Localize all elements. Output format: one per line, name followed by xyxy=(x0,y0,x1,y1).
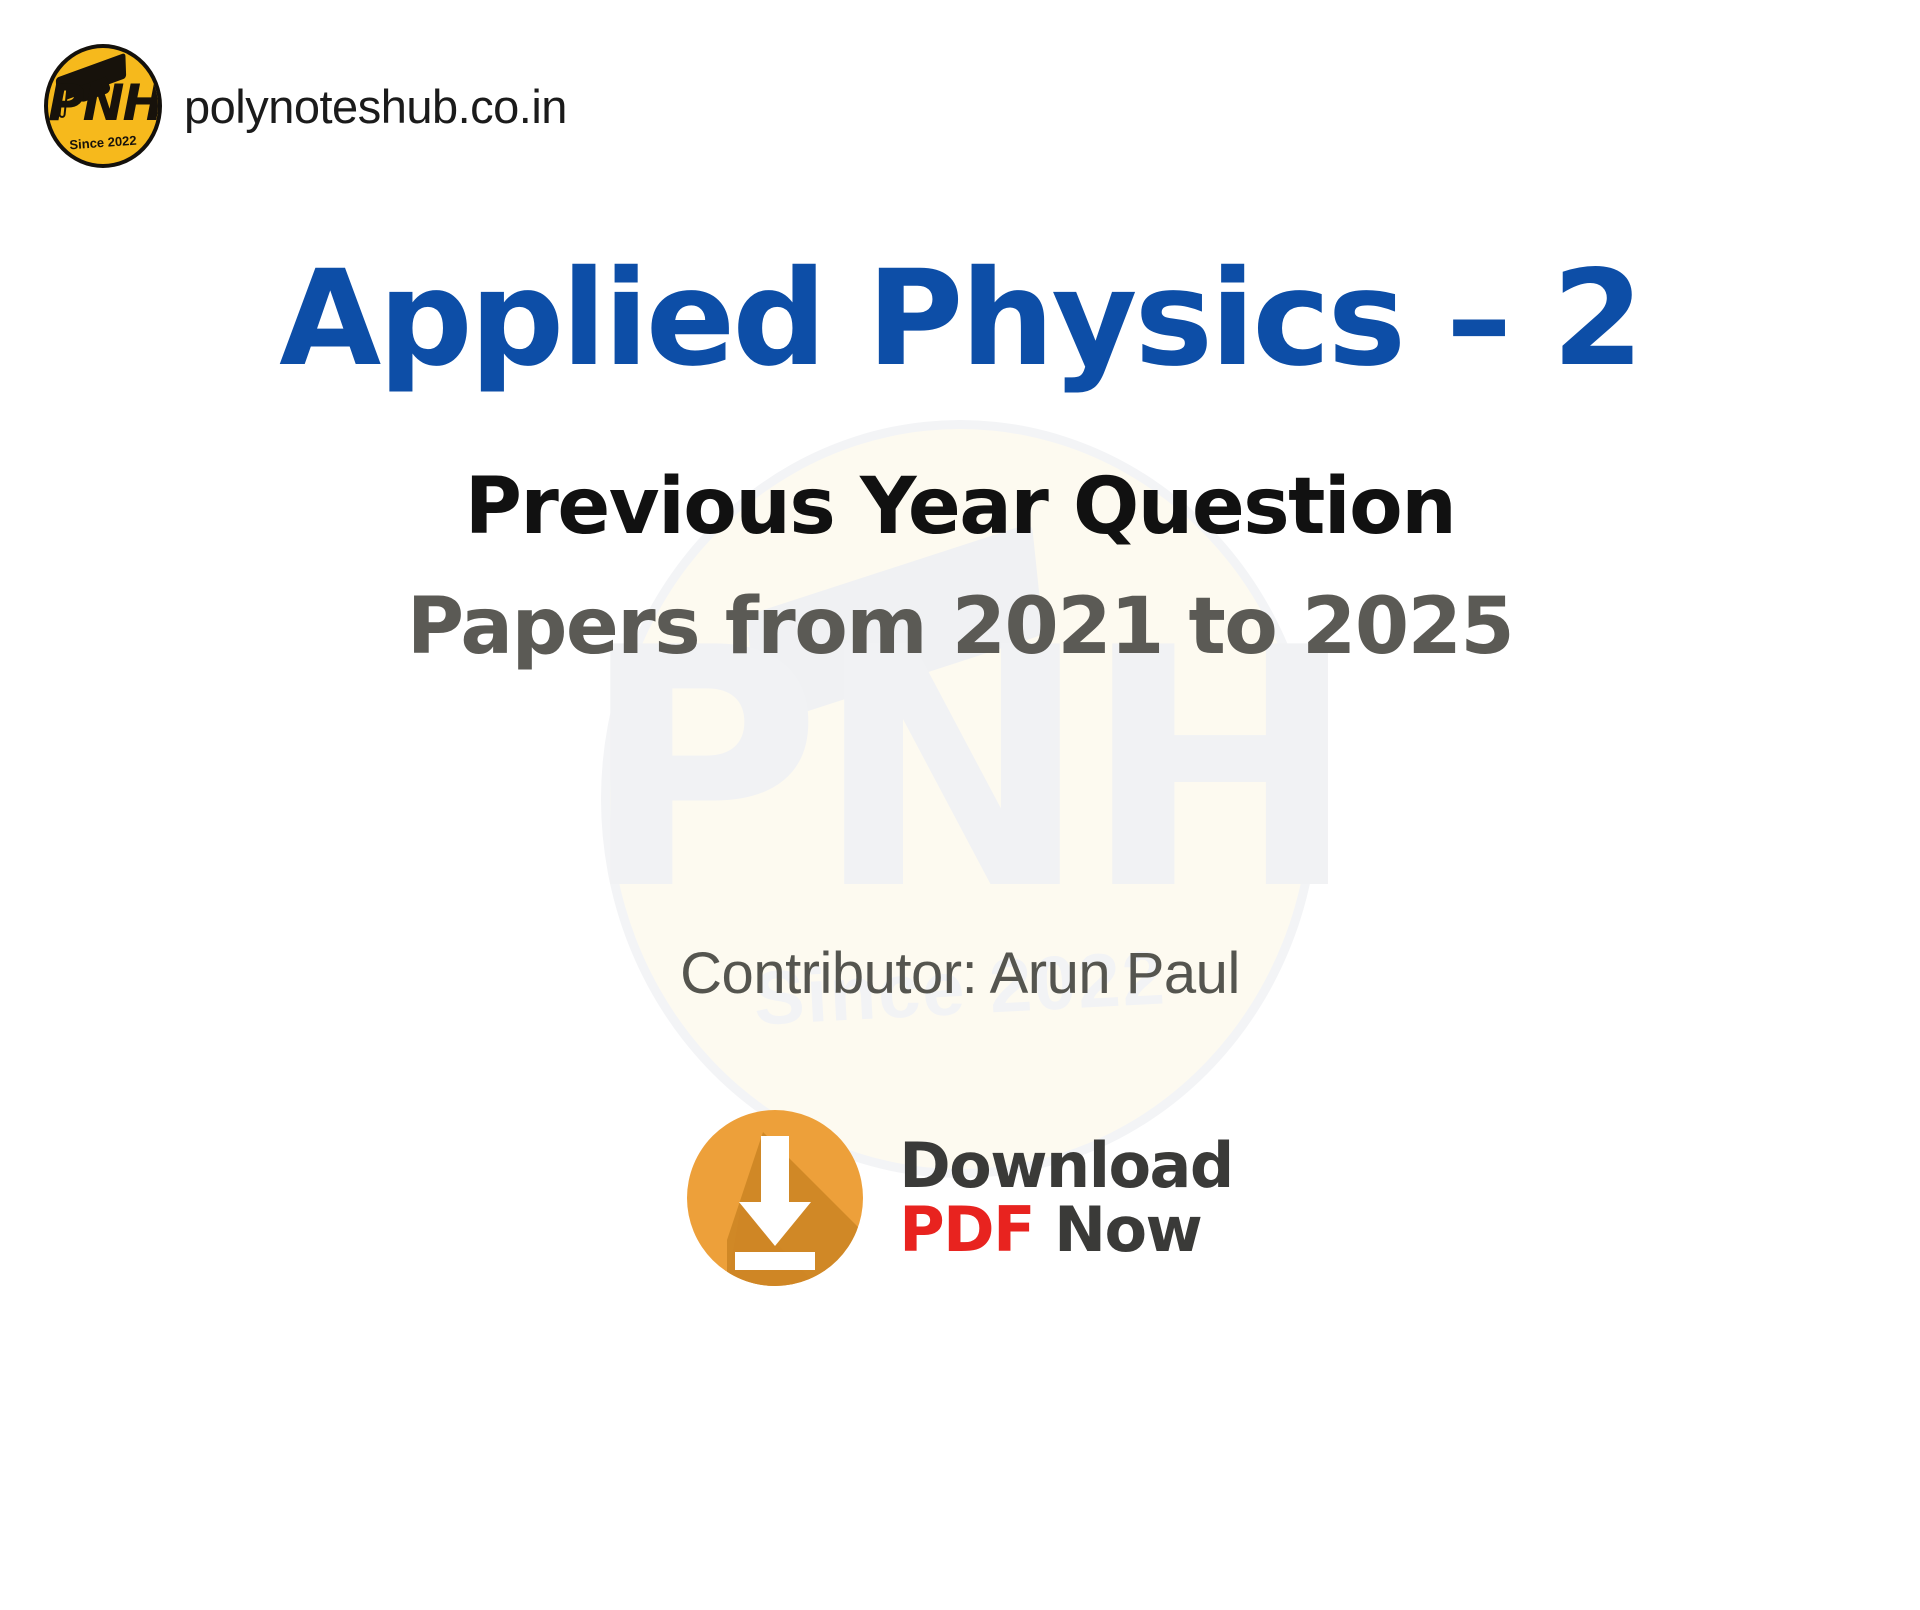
logo-initials: PNH xyxy=(48,78,158,128)
subtitle-line-2: Papers from 2021 to 2025 xyxy=(0,585,1920,671)
page-title: Applied Physics – 2 xyxy=(0,250,1920,389)
pdf-label: PDF xyxy=(899,1193,1034,1266)
site-header: PNH Since 2022 polynoteshub.co.in xyxy=(44,44,567,168)
download-cta-text: Download PDF Now xyxy=(899,1134,1233,1263)
now-label: Now xyxy=(1054,1193,1201,1266)
logo-tagline: Since 2022 xyxy=(48,131,159,154)
subtitle-line-1: Previous Year Question xyxy=(0,465,1920,551)
brand-logo[interactable]: PNH Since 2022 xyxy=(44,44,162,168)
download-arrow-icon[interactable] xyxy=(687,1110,863,1286)
download-cta[interactable]: Download PDF Now xyxy=(0,1110,1920,1286)
contributor-label: Contributor: Arun Paul xyxy=(0,940,1920,1007)
site-url[interactable]: polynoteshub.co.in xyxy=(184,79,567,134)
download-label: Download xyxy=(899,1134,1233,1198)
download-pdf-now-row: PDF Now xyxy=(899,1198,1233,1262)
